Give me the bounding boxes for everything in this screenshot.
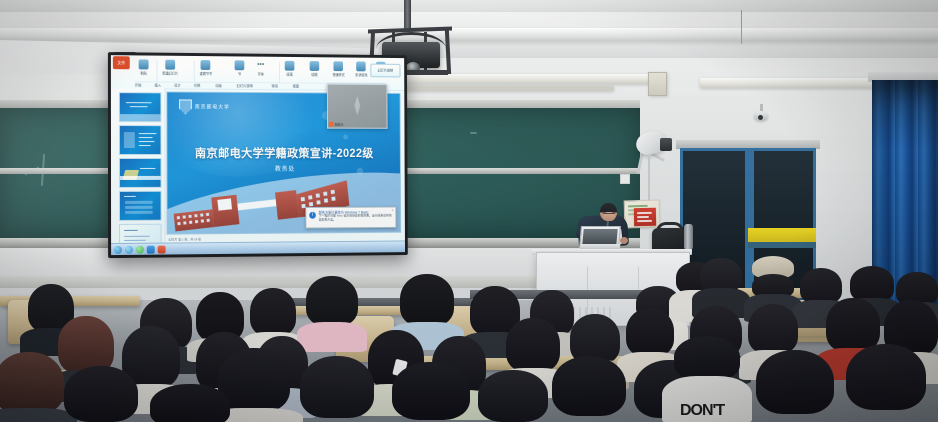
ribbon-label: 段落	[285, 72, 295, 77]
windows-notification-popup[interactable]: i 配色方案已更改为 Windows 7 Basic 下一程序可能 Aero 会…	[305, 206, 396, 228]
camera-lens-icon	[758, 115, 763, 120]
ribbon-label: 节	[235, 71, 245, 76]
shield-icon	[179, 99, 192, 114]
ribbon-label: 字体	[256, 71, 266, 76]
hair	[400, 274, 454, 326]
projection-screen: 文件 粘贴 新建幻灯片 重置节节 节	[108, 52, 408, 258]
hair	[150, 384, 230, 422]
paragraph-icon	[285, 61, 295, 71]
slide-thumbnail[interactable]: 4	[119, 191, 162, 221]
ribbon-group-drawing[interactable]: 绘图	[310, 61, 320, 77]
door-warning-stripe	[748, 228, 816, 242]
qq-icon[interactable]	[147, 245, 155, 253]
student	[306, 276, 358, 346]
hair	[300, 356, 374, 418]
hair	[64, 366, 138, 422]
paste-icon	[139, 59, 149, 69]
laptop-screen	[582, 229, 617, 245]
slide-thumbnail[interactable]: 2	[119, 125, 162, 155]
student	[846, 344, 926, 422]
start-slideshow-button[interactable]: 幻灯片放映	[370, 64, 400, 78]
tab-view[interactable]: 视图	[292, 83, 299, 88]
tab-animations[interactable]: 动画	[215, 83, 222, 88]
drawing-icon	[310, 61, 320, 71]
hair-brown	[0, 352, 64, 414]
font-icon: •••	[256, 61, 266, 71]
ribbon-label: 形状填充	[355, 72, 367, 77]
ribbon-label: 重置节节	[200, 71, 212, 76]
chalk-mark	[470, 132, 477, 134]
camera-preview-tag: 摄像头	[329, 121, 344, 127]
university-logo: 南京邮电大学	[179, 99, 230, 114]
tab-slideshow[interactable]: 幻灯片放映	[237, 83, 253, 88]
slide-title: 南京邮电大学学籍政策宣讲-2022级	[167, 145, 400, 161]
hair	[306, 276, 358, 326]
hair	[392, 362, 470, 420]
hair	[674, 336, 740, 380]
tab-review[interactable]: 审阅	[271, 83, 278, 88]
start-orb-icon[interactable]	[114, 245, 122, 253]
tab-home[interactable]: 开始	[135, 82, 142, 87]
camera-preview-window[interactable]: 摄像头	[327, 84, 388, 129]
projector-mount-pole	[404, 0, 411, 30]
ribbon-separator	[194, 61, 195, 83]
cage-bar	[445, 30, 451, 74]
hair	[478, 370, 548, 422]
fan-motor	[660, 138, 672, 151]
ribbon-label: 新建幻灯片	[162, 71, 178, 76]
hair	[748, 304, 798, 354]
ceiling-beam-upper	[0, 0, 938, 12]
camera-preview-label: 摄像头	[335, 121, 344, 126]
door-kickplate	[748, 242, 816, 248]
ribbon-group-font[interactable]: ••• 字体	[256, 61, 266, 77]
ribbon-group-section[interactable]: 节	[235, 60, 245, 76]
powerpoint-window[interactable]: 文件 粘贴 新建幻灯片 重置节节 节	[111, 55, 405, 255]
shirt-text: DON'T	[680, 402, 724, 420]
student	[552, 356, 626, 422]
ceiling-beam-main	[0, 28, 938, 41]
ppt-file-tab[interactable]: 文件	[113, 56, 130, 69]
tab-design[interactable]: 设计	[174, 83, 181, 88]
student	[64, 366, 138, 422]
shape-fill-icon	[357, 62, 366, 72]
hair	[846, 344, 926, 410]
red-warning-poster	[634, 208, 656, 226]
student	[0, 352, 64, 422]
ribbon-separator	[279, 62, 280, 84]
slide-thumbnail[interactable]: 3	[119, 158, 162, 188]
student	[150, 384, 230, 422]
glasses-icon	[603, 213, 615, 217]
new-slide-icon	[165, 60, 175, 70]
ribbon-label: 绘图	[310, 72, 320, 77]
wall-speaker	[648, 72, 667, 96]
tab-transitions[interactable]: 切换	[194, 83, 201, 88]
no-signal-icon	[351, 96, 364, 116]
hair	[250, 288, 296, 336]
ribbon-label: 粘贴	[139, 70, 149, 75]
ribbon-group-quick-styles[interactable]: 快速样式	[332, 61, 344, 77]
student: DON'T	[674, 336, 740, 422]
wechat-icon[interactable]	[136, 245, 144, 253]
ribbon-group-paragraph[interactable]: 段落	[285, 61, 295, 77]
hair	[626, 308, 674, 356]
camera-icon	[329, 121, 334, 126]
presenter-hand	[620, 237, 628, 244]
student	[300, 356, 374, 422]
light-switch[interactable]	[620, 174, 630, 184]
slide-subtitle: 教务处	[167, 164, 400, 173]
student	[478, 370, 548, 422]
notification-body: 下一程序可能 Aero 会影响某些视觉效果。运行结束后将恢复配色方案。	[319, 214, 393, 222]
close-icon[interactable]: ×	[392, 208, 394, 212]
section-icon	[235, 60, 245, 70]
student	[392, 362, 470, 422]
lecture-hall-scene: 文件 粘贴 新建幻灯片 重置节节 节	[0, 0, 938, 422]
university-name: 南京邮电大学	[195, 103, 230, 110]
ppt-status-bar: 幻灯片 第 1 张，共 18 张	[169, 237, 202, 241]
student	[756, 350, 834, 422]
ribbon-group-new-slide[interactable]: 新建幻灯片	[162, 60, 178, 76]
tab-insert[interactable]: 插入	[154, 82, 161, 87]
windows-taskbar[interactable]	[111, 240, 405, 255]
hair-with-cap	[700, 258, 742, 292]
ppt-file-tab-label: 文件	[113, 56, 130, 69]
slide-thumbnail-panel[interactable]: 1 2 3	[111, 88, 166, 243]
hair	[756, 350, 834, 414]
info-icon: i	[309, 212, 316, 219]
reset-icon	[201, 60, 211, 70]
slide-thumbnail[interactable]: 1	[119, 92, 162, 122]
powerpoint-icon[interactable]	[158, 245, 166, 253]
ribbon-group-shape-fill[interactable]: 形状填充	[355, 62, 367, 78]
hair	[552, 356, 626, 416]
hair	[850, 266, 894, 302]
ribbon-label: 快速样式	[333, 72, 345, 77]
ribbon-group-reset[interactable]: 重置节节	[200, 60, 213, 76]
ribbon-separator	[156, 61, 157, 83]
ribbon-group-paste[interactable]: 粘贴	[139, 59, 149, 75]
ceiling-wire	[741, 10, 742, 44]
quick-styles-icon	[334, 61, 344, 71]
ceiling-light-diffuser	[404, 86, 614, 91]
browser-icon[interactable]	[125, 245, 133, 253]
water-bottle	[684, 224, 693, 250]
slide-bubble	[343, 135, 348, 140]
start-slideshow-label: 幻灯片放映	[371, 65, 399, 77]
